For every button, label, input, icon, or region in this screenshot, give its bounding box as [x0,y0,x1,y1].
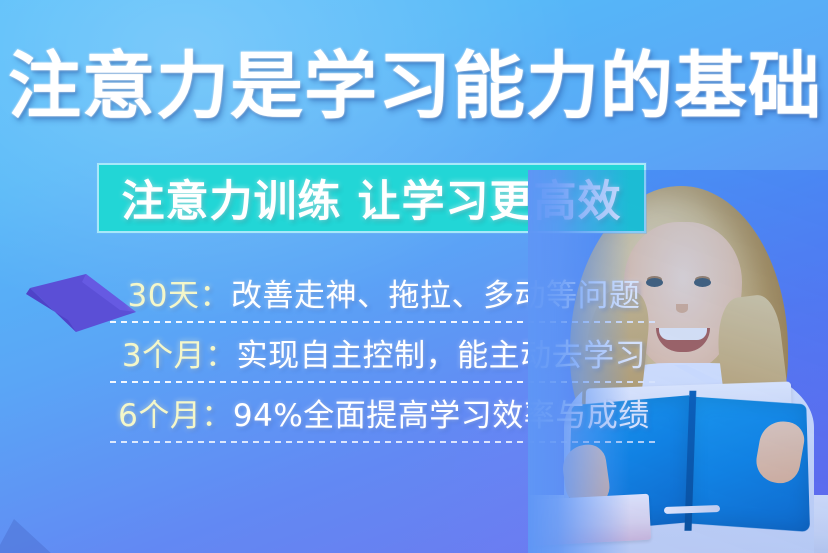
list-divider-3 [110,441,658,443]
list-item: 3个月：实现自主控制，能主动去学习 [110,323,658,381]
benefit-list: 30天：改善走神、拖拉、多动等问题 3个月：实现自主控制，能主动去学习 6个月：… [110,263,658,443]
benefit-detail-2: 实现自主控制，能主动去学习 [237,338,647,374]
benefit-detail-3: 94%全面提高学习效率与成绩 [233,398,650,434]
list-item: 6个月：94%全面提高学习效率与成绩 [110,383,658,441]
benefit-lead-1: 30天：改善走神、拖拉、多动等问题 [128,270,641,315]
benefit-detail-1: 改善走神、拖拉、多动等问题 [231,278,641,314]
desk-surface [528,495,828,553]
list-item: 30天：改善走神、拖拉、多动等问题 [110,263,658,321]
hand-left [560,442,612,510]
promo-banner: 注意力是学习能力的基础 注意力训练 让学习更高效 30天：改善走神、拖拉、多动等… [0,0,828,553]
hand-right [753,418,807,487]
benefit-lead-2: 3个月：实现自主控制，能主动去学习 [122,330,646,375]
nose [676,304,688,313]
corner-triangle-decoration [0,489,66,553]
subtitle-text: 注意力训练 让学习更高效 [122,167,622,229]
benefit-lead-3: 6个月：94%全面提高学习效率与成绩 [118,390,650,435]
paper-stack [528,494,651,547]
hair-strand-right [712,293,799,495]
pen [664,505,720,514]
subtitle-band: 注意力训练 让学习更高效 [97,163,646,233]
page-title: 注意力是学习能力的基础 [8,44,768,130]
mouth [656,328,710,352]
eye-right [694,278,711,287]
